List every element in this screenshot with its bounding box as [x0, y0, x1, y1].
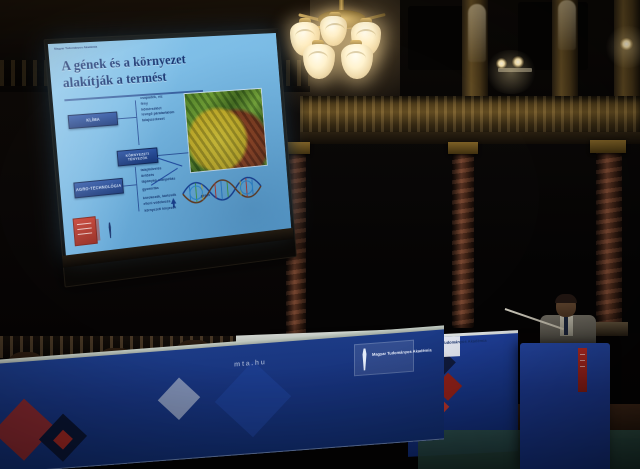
connector [118, 117, 137, 119]
diagram-node-kornyezeti-tenyezok: KÖRNYEZETI TÉNYEZŐK [117, 147, 159, 166]
bullet-list-top: csapadék, víz fény hőmérséklet levegő pá… [140, 94, 175, 124]
diamond-shape-light [158, 378, 200, 420]
mta-logo-text: Magyar Tudományos Akadémia [372, 347, 432, 358]
marble-column [596, 150, 622, 324]
document-logo-icon [73, 216, 98, 246]
speaker-tie [564, 317, 568, 335]
diagram-node-agrotechnologia: AGRO-TECHNOLÓGIA [73, 178, 124, 199]
column-capital [448, 142, 478, 154]
mta-logo-text: Magyar Tudományos Akadémia [54, 45, 97, 52]
slide-title: A gének és a környezet alakítják a termé… [61, 49, 220, 91]
marble-column [452, 150, 474, 328]
bullet-list-bottom: talajművelés öntözés tápanyag-utánpótlás… [141, 164, 186, 207]
slide-title-underline [64, 90, 203, 101]
chandelier-shade [341, 44, 373, 79]
statue [558, 0, 576, 50]
spotlight [496, 58, 507, 69]
arrow-up-icon [171, 198, 177, 204]
conference-hall-photo: A gének és a környezet alakítják a termé… [0, 0, 640, 469]
spotlight [512, 56, 524, 68]
diamond-shape-blue [215, 361, 291, 437]
spotlight [620, 38, 633, 50]
slide-surface: A gének és a környezet alakítják a termé… [48, 33, 291, 255]
mta-logo-icon [108, 222, 117, 238]
mta-figure-icon [360, 348, 369, 371]
projection-screen: A gének és a környezet alakítják a termé… [48, 33, 293, 281]
connector [123, 184, 136, 186]
column-capital [590, 140, 626, 153]
bullet-item: talajszerkezet [142, 116, 175, 124]
lectern [520, 343, 610, 469]
gilded-cornice [300, 96, 640, 136]
connector [135, 167, 140, 212]
connector [135, 100, 140, 145]
mta-figure-icon [108, 222, 113, 238]
diagram-node-klima: KLÍMA [68, 111, 119, 129]
spotlight-glow [484, 50, 538, 94]
statue [468, 4, 486, 62]
chandelier [288, 0, 398, 82]
lectern-red-banner [578, 348, 587, 392]
banner-mta-logo: Magyar Tudományos Akadémia [354, 340, 414, 377]
chandelier-shade [303, 44, 335, 79]
fruit-tree-photo [184, 88, 268, 173]
chandelier-shade [320, 16, 347, 46]
banner-url-text: mta.hu [234, 359, 267, 369]
speaker-hair [555, 294, 577, 303]
